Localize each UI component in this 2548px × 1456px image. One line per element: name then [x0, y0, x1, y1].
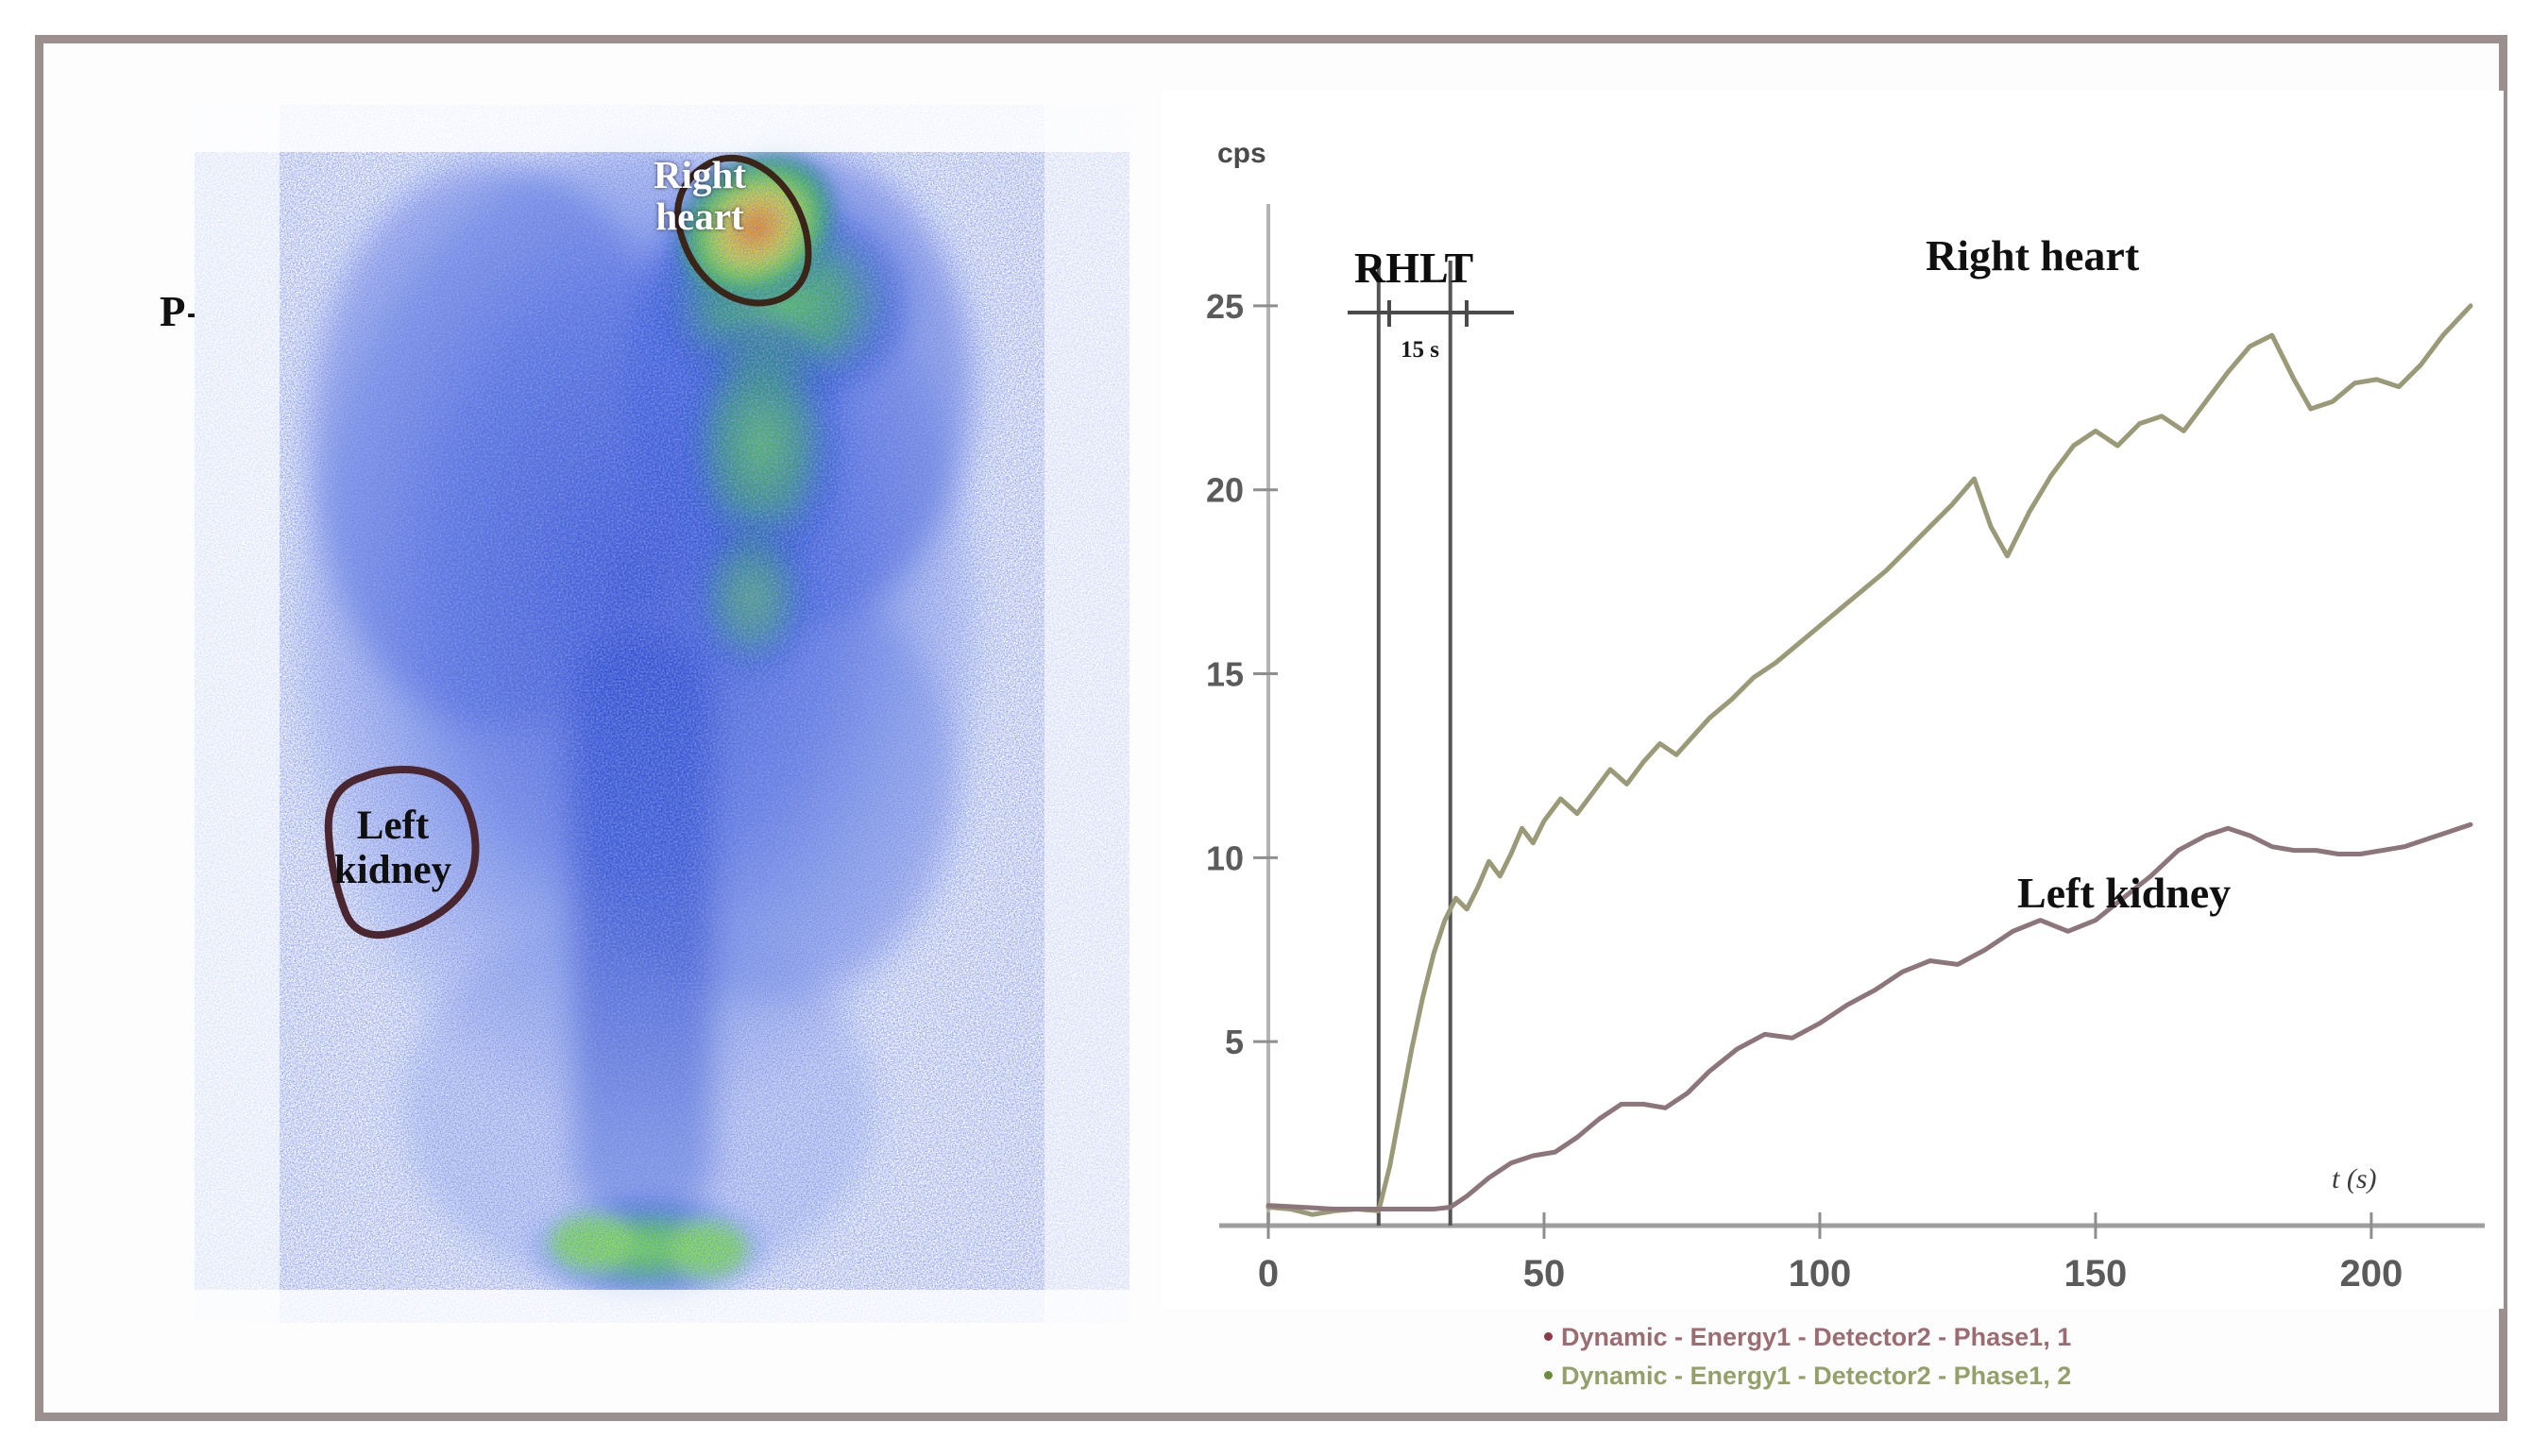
- chart-legend: Dynamic - Energy1 - Detector2 - Phase1, …: [1544, 1318, 2071, 1396]
- x-tick-label-100: 100: [1789, 1253, 1852, 1295]
- y-tick-label-5: 5: [1225, 1023, 1244, 1061]
- legend-dot-icon-0: [1544, 1332, 1553, 1341]
- y-axis-label: cps: [1217, 138, 1266, 169]
- fov-edge-right: [1045, 105, 1130, 1323]
- y-tick-label-20: 20: [1206, 471, 1244, 510]
- rhlt-label: RHLT: [1354, 244, 1473, 292]
- legend-text-0: Dynamic - Energy1 - Detector2 - Phase1, …: [1561, 1323, 2071, 1351]
- scintigram-canvas: [195, 105, 1130, 1323]
- legend-entry-1: Dynamic - Energy1 - Detector2 - Phase1, …: [1544, 1357, 2071, 1396]
- fov-edge-bottom: [195, 1290, 1130, 1323]
- right-heart-overlay-label: Right heart: [591, 154, 808, 238]
- x-tick-label-0: 0: [1258, 1253, 1279, 1295]
- rhlt-duration-label: 15 s: [1401, 337, 1439, 363]
- legend-dot-icon-1: [1544, 1371, 1553, 1380]
- x-axis-label: t (s): [2332, 1163, 2377, 1194]
- curve-label-right-heart: Right heart: [1926, 231, 2140, 279]
- scintigram-panel: P-A: [95, 91, 1163, 1450]
- y-tick-label-10: 10: [1206, 838, 1244, 877]
- left-kidney-label-line2: kidney: [284, 848, 501, 892]
- x-tick-label-50: 50: [1523, 1253, 1566, 1295]
- x-tick-label-150: 150: [2064, 1253, 2128, 1295]
- left-kidney-overlay-label: Left kidney: [284, 804, 501, 893]
- fov-edge-left: [195, 105, 280, 1323]
- fov-edge-top: [195, 105, 1130, 152]
- y-tick-label-15: 15: [1206, 655, 1244, 694]
- photon-speckle-fine: [195, 105, 1130, 1323]
- figure-root: P-A: [0, 0, 2548, 1456]
- time-activity-chart: 510152025 050100150200 cps t (s) RHLT 15…: [1163, 91, 2504, 1309]
- time-activity-chart-panel: 510152025 050100150200 cps t (s) RHLT 15…: [1163, 91, 2504, 1450]
- left-kidney-label-line1: Left: [284, 804, 501, 848]
- x-tick-label-200: 200: [2340, 1253, 2404, 1295]
- right-heart-label-line2: heart: [591, 195, 808, 237]
- figure-frame: P-A: [35, 35, 2507, 1421]
- scintigram-image: Right heart Left kidney: [195, 105, 1130, 1323]
- right-heart-label-line1: Right: [591, 154, 808, 195]
- legend-text-1: Dynamic - Energy1 - Detector2 - Phase1, …: [1561, 1362, 2071, 1390]
- legend-entry-0: Dynamic - Energy1 - Detector2 - Phase1, …: [1544, 1318, 2071, 1357]
- y-tick-label-25: 25: [1206, 287, 1244, 326]
- curve-label-left-kidney: Left kidney: [2017, 869, 2231, 917]
